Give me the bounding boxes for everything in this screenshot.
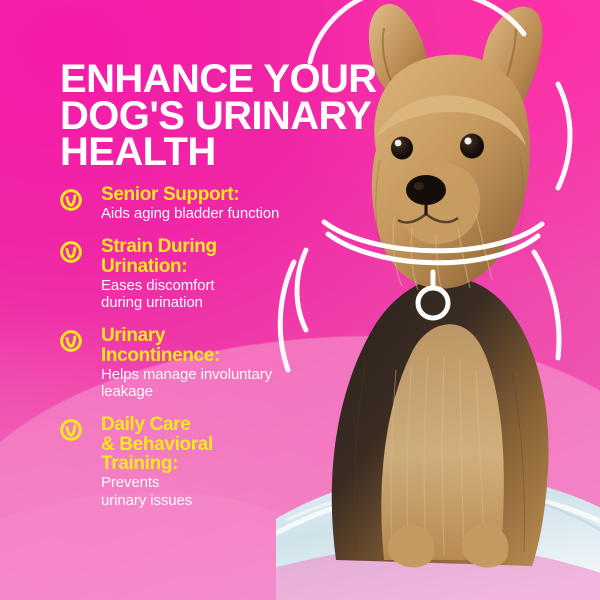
check-circle-icon — [60, 419, 82, 441]
list-item: Daily Care & Behavioral Training: Preven… — [60, 415, 360, 508]
promotional-poster: ENHANCE YOUR DOG'S URINARY HEALTH Senior… — [0, 0, 600, 600]
benefit-title: Daily Care & Behavioral Training: — [101, 415, 360, 473]
benefit-description: Aids aging bladder function — [101, 205, 360, 222]
dog-eye-right — [460, 134, 484, 159]
page-title: ENHANCE YOUR DOG'S URINARY HEALTH — [60, 61, 460, 171]
check-circle-icon — [60, 189, 82, 211]
list-item: Urinary Incontinence: Helps manage invol… — [60, 326, 360, 400]
dog-nose — [406, 175, 446, 205]
dog-paw-left — [388, 526, 434, 568]
benefit-description: Helps manage involuntary leakage — [101, 366, 360, 400]
check-circle-icon — [60, 330, 82, 352]
benefit-description: Eases discomfort during urination — [101, 277, 360, 311]
benefits-list: Senior Support: Aids aging bladder funct… — [60, 185, 360, 524]
benefit-title: Strain During Urination: — [101, 237, 360, 276]
benefit-title: Urinary Incontinence: — [101, 326, 360, 365]
dog-body — [332, 277, 549, 567]
benefit-title: Senior Support: — [101, 185, 360, 204]
list-item: Strain During Urination: Eases discomfor… — [60, 237, 360, 311]
check-circle-icon — [60, 241, 82, 263]
benefit-description: Prevents urinary issues — [101, 474, 360, 508]
list-item: Senior Support: Aids aging bladder funct… — [60, 185, 360, 222]
